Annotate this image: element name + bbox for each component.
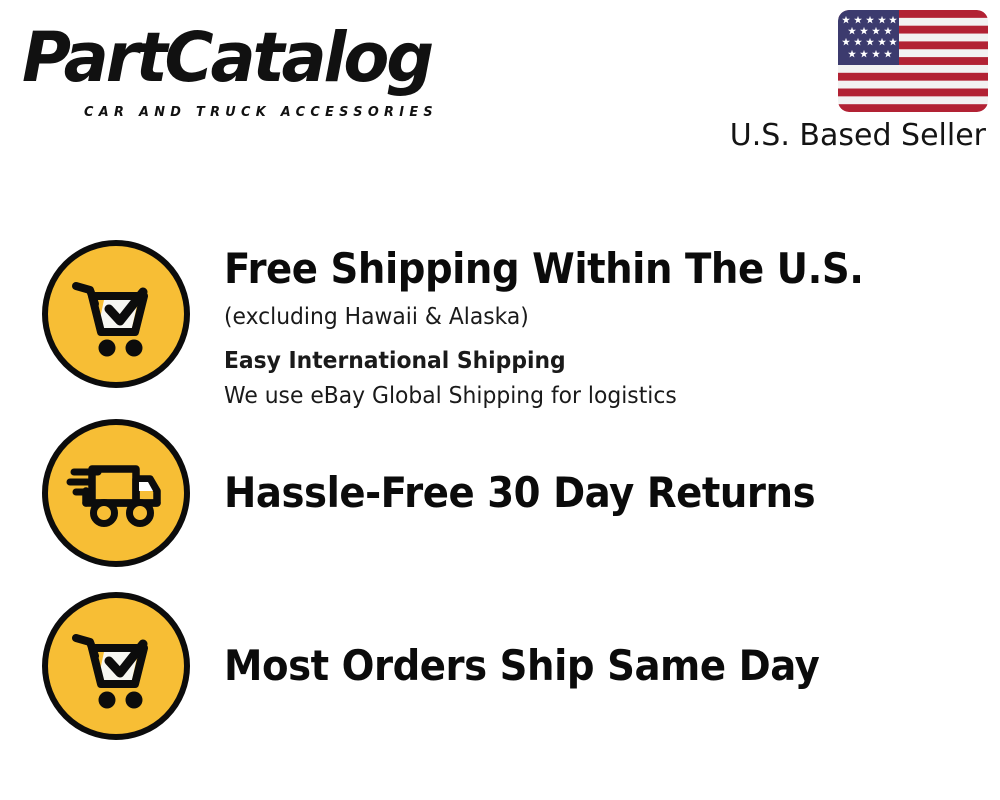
feature-headline: Free Shipping Within The U.S.	[224, 244, 938, 294]
page-header: PartCatalog CAR AND TRUCK ACCESSORIES	[0, 0, 1000, 175]
feature-subheading: Easy International Shipping	[224, 344, 961, 378]
feature-note: (excluding Hawaii & Alaska)	[224, 300, 961, 334]
feature-text-block: Most Orders Ship Same Day	[224, 641, 1000, 691]
feature-headline: Hassle-Free 30 Day Returns	[224, 468, 938, 518]
feature-text-block: Free Shipping Within The U.S. (excluding…	[224, 240, 1000, 413]
feature-row: Hassle-Free 30 Day Returns	[0, 413, 1000, 573]
us-based-seller-label: U.S. Based Seller	[730, 118, 986, 154]
brand-wordmark: PartCatalog	[22, 18, 431, 98]
us-flag-icon	[838, 10, 988, 112]
brand-logo: PartCatalog CAR AND TRUCK ACCESSORIES	[22, 18, 492, 118]
feature-headline: Most Orders Ship Same Day	[224, 641, 938, 691]
feature-row: Free Shipping Within The U.S. (excluding…	[0, 240, 1000, 413]
feature-text-block: Hassle-Free 30 Day Returns	[224, 468, 1000, 518]
feature-detail: We use eBay Global Shipping for logistic…	[224, 379, 961, 413]
feature-row: Most Orders Ship Same Day	[0, 586, 1000, 746]
delivery-truck-icon	[42, 419, 190, 567]
cart-check-icon	[42, 592, 190, 740]
cart-check-icon	[42, 240, 190, 388]
brand-tagline: CAR AND TRUCK ACCESSORIES	[84, 104, 438, 120]
